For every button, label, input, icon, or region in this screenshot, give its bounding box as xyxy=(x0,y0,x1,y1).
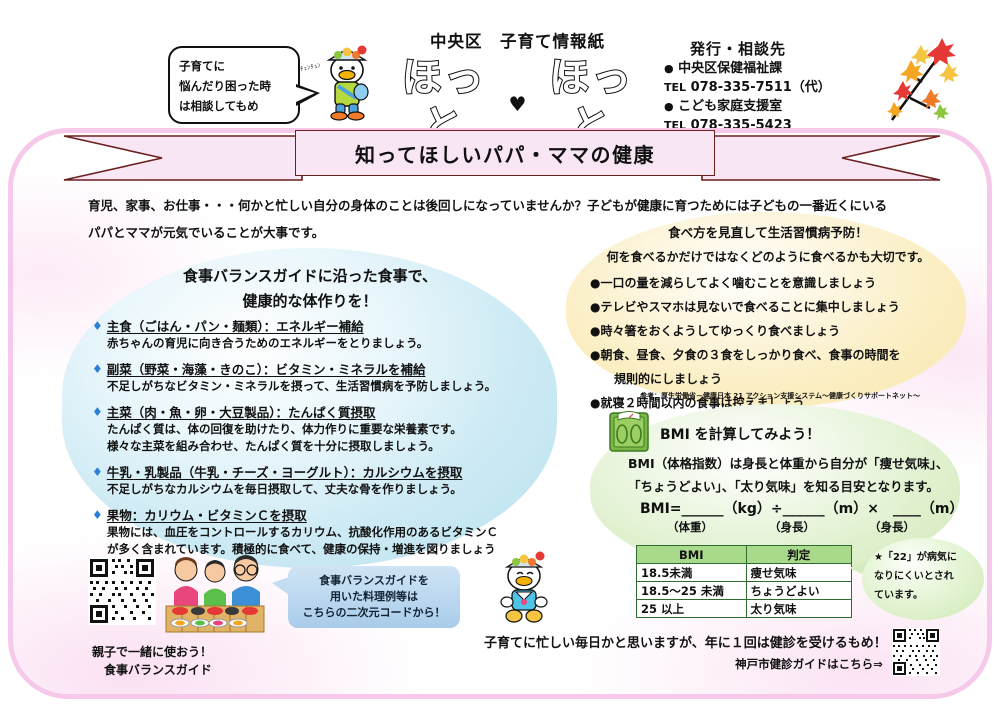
bmi-formula-block: BMI=______（kg）÷______（m）× ____（m） （体重） （… xyxy=(640,498,970,535)
speech-line-3: は相談してもめ xyxy=(179,96,298,116)
food-group-header: ♦ 牛乳・乳製品（牛乳・チーズ・ヨーグルト）：カルシウムを摂取 xyxy=(92,464,532,481)
food-group-title: 牛乳・乳製品（牛乳・チーズ・ヨーグルト）：カルシウムを摂取 xyxy=(107,464,463,481)
bullet-icon: ● xyxy=(664,100,674,113)
qr-instruction-line-2: 用いた料理例等は xyxy=(303,589,446,605)
banner-title-box: 知ってほしいパパ・ママの健康 xyxy=(295,130,715,176)
food-group-body: たんぱく質は、体の回復を助けたり、体力作りに重要な栄養素です。 xyxy=(107,421,532,438)
speech-line-1: 子育てに xyxy=(179,56,298,76)
food-group-header: ♦ 主菜（肉・魚・卵・大豆製品）：たんぱく質摂取 xyxy=(92,404,532,421)
family-meal-illustration xyxy=(160,552,270,634)
food-guide-heading-line-1: 食事バランスガイドに沿った食事で、 xyxy=(110,264,510,289)
newsletter-page: 子育てに 悩んだり困った時 は相談してもめ ﾁｭﾝﾁｭﾝ 中央区 子育て情報紙 … xyxy=(0,0,1000,707)
reference-footnote: 参考：厚生労働省－健康日本 21 アクション支援システム～健康づくりサポートネッ… xyxy=(640,391,920,401)
bmi-note-text: ★「22」が病気に なりにくいとされ ています。 xyxy=(874,548,976,605)
food-group-body: 不足しがちなカルシウムを毎日摂取して、丈夫な骨を作りましょう。 xyxy=(107,481,532,498)
food-group-list: ♦ 主食（ごはん・パン・麺類）：エネルギー補給 赤ちゃんの育児に向き合うためのエ… xyxy=(92,318,532,567)
bathroom-scale-icon xyxy=(608,410,650,454)
food-guide-heading-line-2: 健康的な体作りを！ xyxy=(110,289,510,314)
food-group-title: 主食（ごはん・パン・麺類）：エネルギー補給 xyxy=(107,318,364,335)
table-header-judgement: 判定 xyxy=(746,546,851,564)
contact-title: 発行・相談先 xyxy=(690,38,894,59)
contact-office-2: こども家庭支援室 xyxy=(678,99,782,114)
maple-branch-icon xyxy=(880,38,960,124)
heart-icon: ♥ xyxy=(509,92,527,116)
contact-block: 発行・相談先 ● 中央区保健福祉課 TEL 078-335-7511（代） ● … xyxy=(664,38,894,135)
table-row: 18.5～25 未満 ちょうどよい xyxy=(637,582,852,600)
bmi-range: 18.5～25 未満 xyxy=(637,582,747,600)
bmi-range: 25 以上 xyxy=(637,600,747,618)
pin-icon: ♦ xyxy=(92,361,103,377)
food-group-item: ♦ 副菜（野菜・海藻・きのこ）：ビタミン・ミネラルを補給 不足しがちなビタミン・… xyxy=(92,361,532,395)
pin-icon: ♦ xyxy=(92,464,103,480)
food-group-item: ♦ 主食（ごはん・パン・麺類）：エネルギー補給 赤ちゃんの育児に向き合うためのエ… xyxy=(92,318,532,352)
duck-mascot-bottom-icon xyxy=(496,548,552,626)
contact-office-1: 中央区保健福祉課 xyxy=(678,61,782,76)
food-group-item: ♦ 牛乳・乳製品（牛乳・チーズ・ヨーグルト）：カルシウムを摂取 不足しがちなカル… xyxy=(92,464,532,498)
table-header-bmi: BMI xyxy=(637,546,747,564)
contact-line: ● 中央区保健福祉課 xyxy=(664,59,894,78)
banner-title: 知ってほしいパパ・ママの健康 xyxy=(355,139,655,168)
bmi-judgement: 痩せ気味 xyxy=(746,564,851,582)
footer-message: 子育てに忙しい毎日かと思いますが、年に１回は健診を受けるもめ！ 神戸市健診ガイド… xyxy=(484,632,887,672)
speech-line-2: 悩んだり困った時 xyxy=(179,76,298,96)
bmi-label-height-1: （身長） xyxy=(740,519,844,535)
telephone-icon: TEL xyxy=(664,81,686,94)
bmi-title: BMI を計算してみよう！ xyxy=(660,424,820,444)
food-group-item: ♦ 果物：カリウム・ビタミンＣを摂取 果物には、血圧をコントロールするカリウム、… xyxy=(92,507,532,558)
food-guide-heading: 食事バランスガイドに沿った食事で、 健康的な体作りを！ xyxy=(110,264,510,314)
food-group-title: 主菜（肉・魚・卵・大豆製品）：たんぱく質摂取 xyxy=(107,404,376,421)
food-group-title: 果物：カリウム・ビタミンＣを摂取 xyxy=(107,507,307,524)
qr-caption: 親子で一緒に使おう！ 食事バランスガイド xyxy=(92,643,212,679)
bullet-icon: ● xyxy=(664,62,674,75)
eating-habit-item: ●一口の量を減らしてよく噛むことを意識しましょう xyxy=(578,271,958,295)
bmi-range: 18.5未満 xyxy=(637,564,747,582)
masthead-kicker: 中央区 子育て情報紙 xyxy=(385,28,650,52)
bmi-description: BMI（体格指数）は身長と体重から自分が「痩せ気味」、 「ちょうどよい」、「太り… xyxy=(628,452,968,498)
eating-habit-item: ●朝食、昼食、夕食の３食をしっかり食べ、食事の時間を 規則的にしましょう xyxy=(578,343,958,391)
pin-icon: ♦ xyxy=(92,507,103,523)
bmi-desc-line-2: 「ちょうどよい」、「太り気味」を知る目安となります。 xyxy=(628,475,968,498)
bmi-note-bubble: ★「22」が病気に なりにくいとされ ています。 xyxy=(862,538,984,620)
food-group-body: 果物には、血圧をコントロールするカリウム、抗酸化作用のあるビタミンＣ xyxy=(107,524,532,541)
food-balance-guide-qr-code[interactable] xyxy=(88,557,156,625)
contact-line: TEL 078-335-7511（代） xyxy=(664,78,894,97)
bmi-label-height-2: （身長） xyxy=(844,519,940,535)
qr-caption-line-1: 親子で一緒に使おう！ xyxy=(92,643,212,661)
bmi-classification-table: BMI 判定 18.5未満 痩せ気味 18.5～25 未満 ちょうどよい 25 … xyxy=(636,545,852,618)
eating-habit-item: ●時々箸をおくようしてゆっくり食べましょう xyxy=(578,319,958,343)
table-row: 25 以上 太り気味 xyxy=(637,600,852,618)
bmi-desc-line-1: BMI（体格指数）は身長と体重から自分が「痩せ気味」、 xyxy=(628,452,968,475)
contact-line: ● こども家庭支援室 xyxy=(664,97,894,116)
table-row: 18.5未満 痩せ気味 xyxy=(637,564,852,582)
bmi-formula: BMI=______（kg）÷______（m）× ____（m） xyxy=(640,498,970,518)
food-group-header: ♦ 主食（ごはん・パン・麺類）：エネルギー補給 xyxy=(92,318,532,335)
eating-habits-content: 食べ方を見直して生活習慣病予防！ 何を食べるかだけではなくどのように食べるかも大… xyxy=(578,222,958,415)
footer-sub-text: 神戸市健診ガイドはこちら⇒ xyxy=(484,656,887,672)
bmi-judgement: 太り気味 xyxy=(746,600,851,618)
food-group-body: 様々な主菜を組み合わせ、たんぱく質を十分に摂取しましょう。 xyxy=(107,438,532,455)
food-group-item: ♦ 主菜（肉・魚・卵・大豆製品）：たんぱく質摂取 たんぱく質は、体の回復を助けた… xyxy=(92,404,532,455)
qr-caption-line-2: 食事バランスガイド xyxy=(92,661,212,679)
food-group-body: 不足しがちなビタミン・ミネラルを摂って、生活習慣病を予防しましょう。 xyxy=(107,378,532,395)
bmi-note-line-1: ★「22」が病気に xyxy=(874,548,976,567)
bmi-note-line-3: ています。 xyxy=(874,586,976,605)
qr-instruction-text: 食事バランスガイドを 用いた料理例等は こちらの二次元コードから！ xyxy=(303,573,446,621)
food-group-header: ♦ 副菜（野菜・海藻・きのこ）：ビタミン・ミネラルを補給 xyxy=(92,361,532,378)
eating-habit-item: ●テレビやスマホは見ないで食べることに集中しましょう xyxy=(578,295,958,319)
bmi-note-line-2: なりにくいとされ xyxy=(874,567,976,586)
qr-instruction-line-3: こちらの二次元コードから！ xyxy=(303,605,446,621)
duck-mascot-header-icon xyxy=(316,40,378,122)
food-group-header: ♦ 果物：カリウム・ビタミンＣを摂取 xyxy=(92,507,532,524)
pin-icon: ♦ xyxy=(92,404,103,420)
bmi-judgement: ちょうどよい xyxy=(746,582,851,600)
contact-phone-1: 078-335-7511（代） xyxy=(691,80,831,95)
bmi-label-weight: （体重） xyxy=(640,519,740,535)
eating-habits-subtitle: 何を食べるかだけではなくどのように食べるかも大切です。 xyxy=(578,248,958,265)
pin-icon: ♦ xyxy=(92,318,103,334)
kobe-checkup-guide-qr-code[interactable] xyxy=(892,628,940,676)
eating-habit-item-line-1: ●朝食、昼食、夕食の３食をしっかり食べ、食事の時間を xyxy=(590,348,900,362)
advice-speech-bubble: 子育てに 悩んだり困った時 は相談してもめ xyxy=(168,46,300,124)
food-group-title: 副菜（野菜・海藻・きのこ）：ビタミン・ミネラルを補給 xyxy=(107,361,426,378)
table-header-row: BMI 判定 xyxy=(637,546,852,564)
footer-main-text: 子育てに忙しい毎日かと思いますが、年に１回は健診を受けるもめ！ xyxy=(484,632,887,651)
eating-habit-item-line-2: 規則的にしましょう xyxy=(602,367,958,391)
qr-instruction-line-1: 食事バランスガイドを xyxy=(303,573,446,589)
food-group-body: 赤ちゃんの育児に向き合うためのエネルギーをとりましょう。 xyxy=(107,335,532,352)
qr-instruction-bubble: 食事バランスガイドを 用いた料理例等は こちらの二次元コードから！ xyxy=(288,566,460,628)
bmi-formula-labels: （体重） （身長） （身長） xyxy=(640,519,970,535)
eating-habits-title: 食べ方を見直して生活習慣病予防！ xyxy=(578,222,958,241)
